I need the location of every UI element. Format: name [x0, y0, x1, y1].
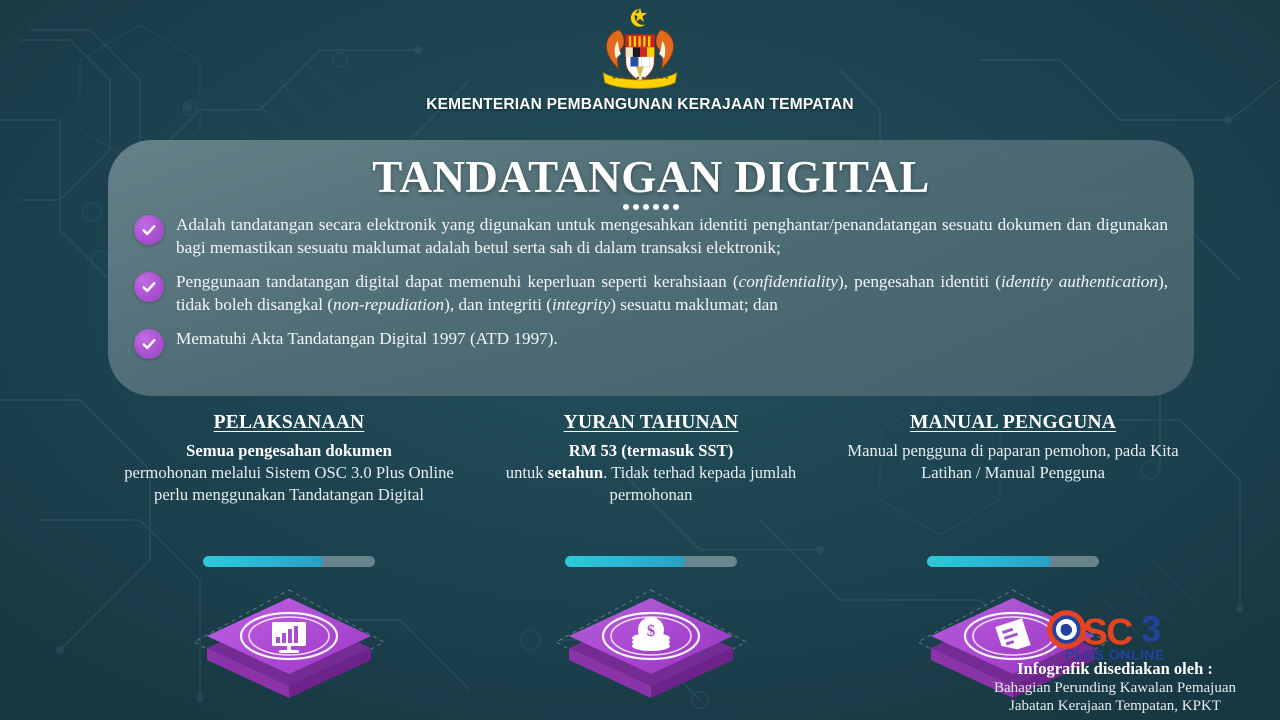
columns-section: PELAKSANAAN Semua pengesahan dokumen per…	[108, 412, 1194, 506]
progress-bar-track	[565, 556, 737, 567]
column-manual-pengguna: MANUAL PENGGUNA Manual pengguna di papar…	[832, 412, 1194, 506]
title-dots-decoration	[134, 204, 1168, 210]
column-heading: PELAKSANAAN	[122, 412, 456, 434]
check-circle-icon	[134, 215, 164, 245]
check-circle-icon	[134, 329, 164, 359]
icon-tile-cell-1	[108, 580, 470, 716]
column-body-text: Manual pengguna di paparan pemohon, pada…	[847, 441, 1178, 482]
column-bold-lead: RM 53 (termasuk SST)	[569, 441, 734, 460]
progress-bar-fill	[203, 556, 323, 567]
bullet-text-2: Penggunaan tandatangan digital dapat mem…	[176, 271, 1168, 317]
page-header: KEMENTERIAN PEMBANGUNAN KERAJAAN TEMPATA…	[0, 0, 1280, 125]
column-bold-lead: Semua pengesahan dokumen	[186, 441, 392, 460]
column-heading: MANUAL PENGGUNA	[846, 412, 1180, 434]
svg-text:3: 3	[1141, 609, 1161, 649]
column-body-text: permohonan melalui Sistem OSC 3.0 Plus O…	[124, 463, 454, 504]
icon-tile-yuran: $	[541, 580, 761, 716]
column-body: Semua pengesahan dokumen permohonan mela…	[122, 440, 456, 506]
progress-bar-track	[203, 556, 375, 567]
icon-tile-cell-2: $	[470, 580, 832, 716]
check-circle-icon	[134, 272, 164, 302]
progress-bar-cell-1	[108, 556, 470, 567]
column-yuran-tahunan: YURAN TAHUNAN RM 53 (termasuk SST) untuk…	[470, 412, 832, 506]
svg-text:SC: SC	[1083, 610, 1132, 652]
progress-bar-fill	[565, 556, 685, 567]
bullet-item-1: Adalah tandatangan secara elektronik yan…	[134, 214, 1168, 260]
ministry-title: KEMENTERIAN PEMBANGUNAN KERAJAAN TEMPATA…	[426, 96, 854, 114]
malaysia-coat-of-arms-icon	[592, 6, 688, 92]
page-title: TANDATANGAN DIGITAL	[134, 154, 1168, 201]
column-pelaksanaan: PELAKSANAAN Semua pengesahan dokumen per…	[108, 412, 470, 506]
column-body-text: untuk setahun. Tidak terhad kepada jumla…	[506, 463, 796, 504]
footer-credit: o SC 3 PLUS ONLINE Infografik disediakan…	[962, 603, 1268, 716]
osc3-plus-online-logo-icon: o SC 3 PLUS ONLINE	[1044, 603, 1186, 665]
progress-bar-cell-3	[832, 556, 1194, 567]
main-info-card: TANDATANGAN DIGITAL Adalah tandatangan s…	[108, 140, 1194, 396]
column-body: RM 53 (termasuk SST) untuk setahun. Tida…	[484, 440, 818, 506]
credit-line-2: Jabatan Kerajaan Tempatan, KPKT	[962, 697, 1268, 716]
bullet-item-2: Penggunaan tandatangan digital dapat mem…	[134, 271, 1168, 317]
icon-tile-pelaksanaan	[179, 580, 399, 716]
credit-title: Infografik disediakan oleh :	[962, 659, 1268, 679]
progress-bar-track	[927, 556, 1099, 567]
bullet-text-1: Adalah tandatangan secara elektronik yan…	[176, 214, 1168, 260]
bullet-item-3: Mematuhi Akta Tandatangan Digital 1997 (…	[134, 328, 1168, 359]
progress-bars-section	[108, 556, 1194, 567]
credit-line-1: Bahagian Perunding Kawalan Pemajuan	[962, 679, 1268, 698]
svg-text:$: $	[647, 621, 656, 640]
progress-bar-cell-2	[470, 556, 832, 567]
column-heading: YURAN TAHUNAN	[484, 412, 818, 434]
bullet-text-3: Mematuhi Akta Tandatangan Digital 1997 (…	[176, 328, 1168, 351]
column-body: Manual pengguna di paparan pemohon, pada…	[846, 440, 1180, 484]
progress-bar-fill	[927, 556, 1051, 567]
